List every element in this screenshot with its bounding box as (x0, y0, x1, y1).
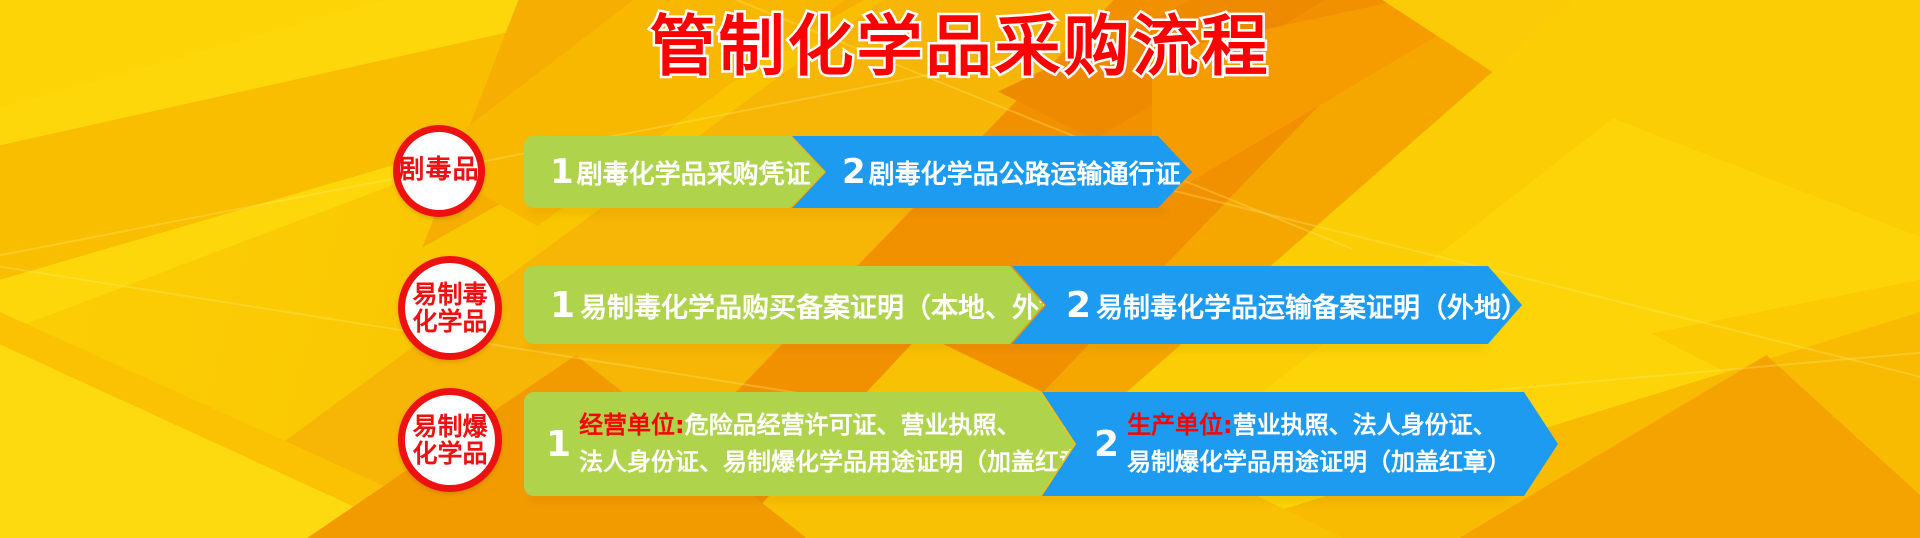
flow-step-2-explosive-precursor[interactable]: 2 生产单位:营业执照、法人身份证、 易制爆化学品用途证明（加盖红章） (1042, 392, 1558, 496)
step-label: 易制毒化学品购买备案证明（本地、外地） (580, 286, 1093, 325)
flow-step-1-acutely-toxic[interactable]: 1 剧毒化学品采购凭证 (524, 136, 824, 208)
page-title: 管制化学品采购流程 (0, 8, 1920, 86)
badge-line: 化学品 (412, 440, 487, 467)
badge-line: 剧毒品 (399, 157, 480, 184)
step-label-line-1: 生产单位:营业执照、法人身份证、 (1127, 407, 1511, 444)
step-number: 1 (546, 424, 571, 465)
badge-line: 化学品 (412, 308, 487, 335)
step-label: 经营单位:危险品经营许可证、营业执照、 法人身份证、易制爆化学品用途证明（加盖红… (579, 407, 1107, 481)
step-label-line-1: 经营单位:危险品经营许可证、营业执照、 (579, 407, 1107, 444)
flow-step-1-drug-precursor[interactable]: 1 易制毒化学品购买备案证明（本地、外地） (524, 266, 1044, 344)
step-line-text: 营业执照、法人身份证、 (1233, 411, 1497, 439)
flow-step-2-acutely-toxic[interactable]: 2 剧毒化学品公路运输通行证 (792, 136, 1192, 208)
step-number: 2 (1094, 424, 1119, 465)
flow-track-row-3: 1 经营单位:危险品经营许可证、营业执照、 法人身份证、易制爆化学品用途证明（加… (524, 392, 1558, 496)
step-number: 1 (550, 285, 575, 326)
badge-line: 易制爆 (412, 413, 487, 440)
badge-line: 易制毒 (412, 281, 487, 308)
step-number: 1 (550, 152, 574, 192)
category-badge-explosive-precursor: 易制爆 化学品 (398, 388, 502, 492)
flow-step-1-explosive-precursor[interactable]: 1 经营单位:危险品经营许可证、营业执照、 法人身份证、易制爆化学品用途证明（加… (524, 392, 1074, 496)
flow-track-row-1: 1 剧毒化学品采购凭证 2 剧毒化学品公路运输通行证 (524, 136, 1192, 208)
flow-step-2-drug-precursor[interactable]: 2 易制毒化学品运输备案证明（外地） (1012, 266, 1522, 344)
category-badge-acutely-toxic: 剧毒品 (393, 125, 485, 217)
step-line-text: 危险品经营许可证、营业执照、 (685, 411, 1021, 439)
step-label-line-2: 法人身份证、易制爆化学品用途证明（加盖红章） (579, 444, 1107, 481)
step-label: 剧毒化学品公路运输通行证 (869, 154, 1181, 191)
step-entity-label: 经营单位: (579, 411, 685, 439)
step-number: 2 (842, 152, 866, 192)
step-entity-label: 生产单位: (1127, 411, 1233, 439)
flow-track-row-2: 1 易制毒化学品购买备案证明（本地、外地） 2 易制毒化学品运输备案证明（外地） (524, 266, 1522, 344)
step-label: 剧毒化学品采购凭证 (577, 154, 811, 191)
category-badge-drug-precursor: 易制毒 化学品 (398, 256, 502, 360)
step-number: 2 (1066, 285, 1091, 326)
step-label: 易制毒化学品运输备案证明（外地） (1096, 286, 1528, 325)
step-label-line-2: 易制爆化学品用途证明（加盖红章） (1127, 444, 1511, 481)
step-label: 生产单位:营业执照、法人身份证、 易制爆化学品用途证明（加盖红章） (1127, 407, 1511, 481)
chemical-procurement-flow-banner: 管制化学品采购流程 剧毒品 1 剧毒化学品采购凭证 2 剧毒化学品公路运输通行证… (0, 0, 1920, 538)
